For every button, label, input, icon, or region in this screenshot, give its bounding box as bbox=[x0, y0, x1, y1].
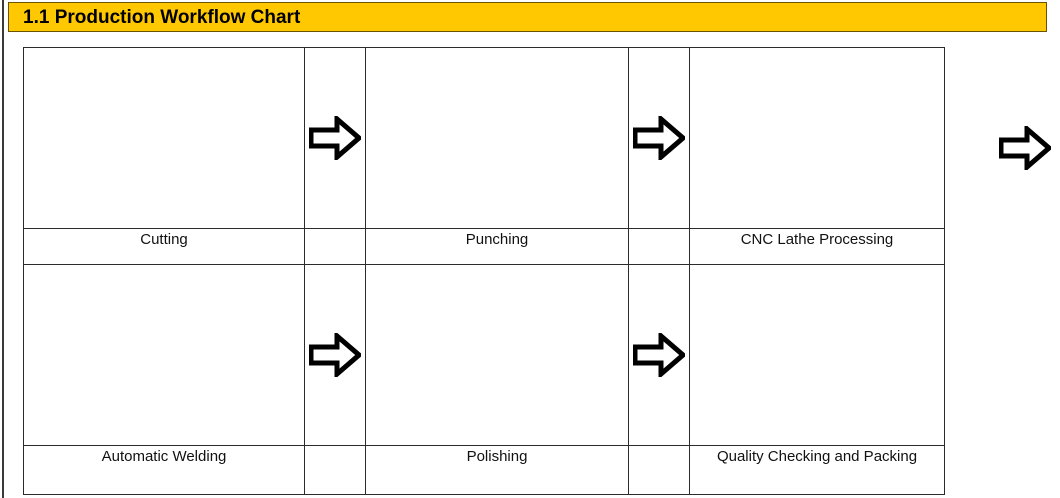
arrow-cell-4 bbox=[629, 265, 690, 446]
step-3-label: CNC Lathe Processing bbox=[690, 229, 944, 252]
step-5-label: Polishing bbox=[366, 446, 628, 469]
spacer-cell-2 bbox=[629, 229, 690, 265]
step-5-caption-cell: Polishing bbox=[366, 446, 629, 495]
right-block-arrow-icon bbox=[633, 116, 685, 160]
workflow-row-1-captions: Cutting Punching CNC Lathe Processing bbox=[24, 229, 945, 265]
section-heading-bar: 1.1 Production Workflow Chart bbox=[8, 2, 1047, 32]
right-block-arrow-icon bbox=[309, 333, 361, 377]
step-2-image-cell bbox=[366, 48, 629, 229]
spacer-cell-3 bbox=[305, 446, 366, 495]
step-6-image-cell bbox=[690, 265, 945, 446]
right-block-arrow-icon bbox=[309, 116, 361, 160]
step-4-label: Automatic Welding bbox=[24, 446, 304, 469]
step-4-image-cell bbox=[24, 265, 305, 446]
arrow-cell-3 bbox=[305, 265, 366, 446]
step-2-label: Punching bbox=[366, 229, 628, 252]
page-left-rule bbox=[2, 0, 4, 498]
step-2-caption-cell: Punching bbox=[366, 229, 629, 265]
step-4-caption-cell: Automatic Welding bbox=[24, 446, 305, 495]
step-6-label: Quality Checking and Packing bbox=[690, 446, 944, 469]
spacer-cell-4 bbox=[629, 446, 690, 495]
step-6-caption-cell: Quality Checking and Packing bbox=[690, 446, 945, 495]
step-3-caption-cell: CNC Lathe Processing bbox=[690, 229, 945, 265]
step-1-image-cell bbox=[24, 48, 305, 229]
workflow-row-1-images: FineMach Quality Never Ends bbox=[24, 48, 945, 229]
spacer-cell-1 bbox=[305, 229, 366, 265]
right-block-arrow-icon-trailing bbox=[999, 126, 1051, 170]
arrow-cell-2 bbox=[629, 48, 690, 229]
production-workflow-table: FineMach Quality Never Ends Cutting Punc… bbox=[23, 47, 945, 495]
right-block-arrow-icon bbox=[633, 333, 685, 377]
step-1-label: Cutting bbox=[24, 229, 304, 252]
arrow-cell-1 bbox=[305, 48, 366, 229]
workflow-row-2-images bbox=[24, 265, 945, 446]
step-3-image-cell: FineMach Quality Never Ends bbox=[690, 48, 945, 229]
step-5-image-cell bbox=[366, 265, 629, 446]
step-1-caption-cell: Cutting bbox=[24, 229, 305, 265]
workflow-row-2-captions: Automatic Welding Polishing Quality Chec… bbox=[24, 446, 945, 495]
page-title: 1.1 Production Workflow Chart bbox=[23, 7, 300, 29]
